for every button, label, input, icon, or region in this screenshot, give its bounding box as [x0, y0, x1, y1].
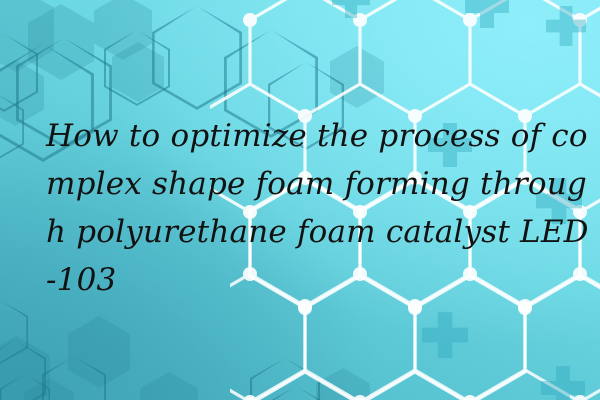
medical-cross-icon [332, 0, 370, 18]
medical-cross-icon [422, 312, 468, 358]
medical-cross-icon [541, 366, 585, 400]
title-banner: How to optimize the process of complex s… [0, 0, 600, 400]
medical-cross-icon [465, 0, 509, 28]
medical-cross-icon [546, 6, 586, 46]
page-title: How to optimize the process of complex s… [46, 112, 592, 304]
hexagon-filled [140, 372, 198, 400]
